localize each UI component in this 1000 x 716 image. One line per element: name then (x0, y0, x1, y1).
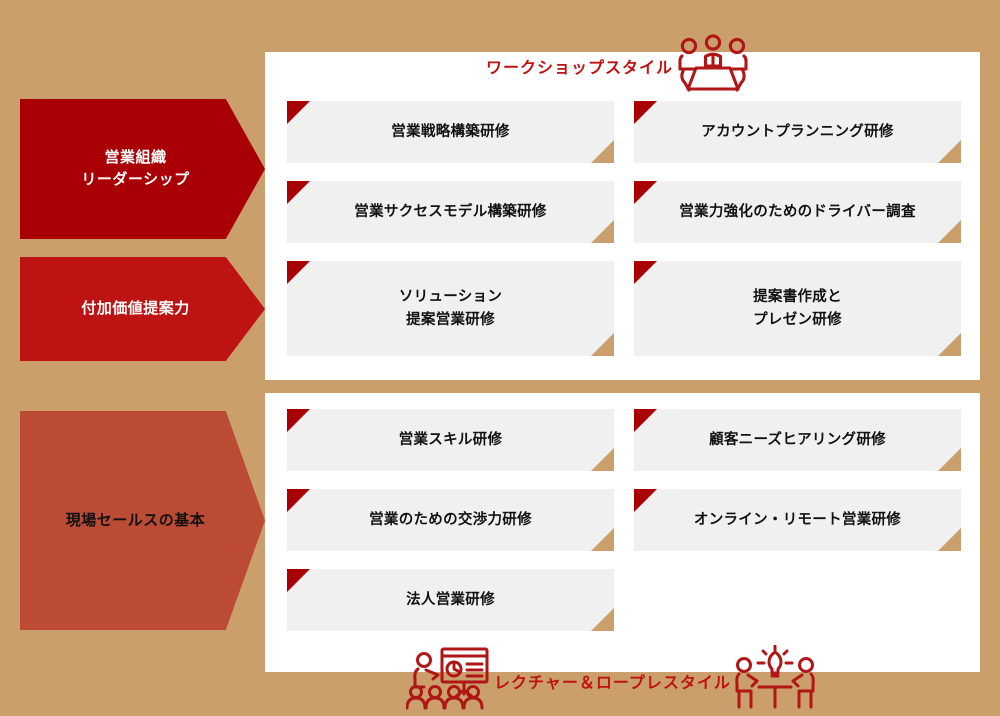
corner-accent-icon (938, 140, 961, 163)
caption-lecture: レクチャー＆ロープレスタイル (406, 645, 815, 716)
training-card[interactable]: 営業力強化のためのドライバー調査 (634, 181, 961, 243)
category-label-value: 付加価値提案力 (81, 298, 204, 320)
training-card-label: 営業戦略構築研修 (391, 121, 509, 143)
training-card[interactable]: ソリューション 提案営業研修 (287, 261, 614, 356)
lecture-presentation-icon (406, 646, 490, 715)
corner-accent-icon (591, 333, 614, 356)
corner-accent-icon (634, 261, 657, 284)
category-arrow-value[interactable]: 付加価値提案力 (20, 257, 265, 361)
training-card-label: 法人営業研修 (406, 589, 495, 611)
training-card-label: 営業サクセスモデル構築研修 (354, 201, 546, 223)
corner-accent-icon (938, 528, 961, 551)
training-card-label: 営業力強化のためのドライバー調査 (679, 201, 916, 223)
workshop-meeting-icon (677, 34, 749, 97)
category-arrow-leadership[interactable]: 営業組織 リーダーシップ (20, 99, 265, 239)
category-label-basics: 現場セールスの基本 (66, 510, 220, 532)
training-card[interactable]: オンライン・リモート営業研修 (634, 489, 961, 551)
training-card[interactable]: 提案書作成と プレゼン研修 (634, 261, 961, 356)
corner-accent-icon (591, 528, 614, 551)
caption-lecture-label: レクチャー＆ロープレスタイル (494, 669, 731, 693)
training-card[interactable]: 営業スキル研修 (287, 409, 614, 471)
corner-accent-icon (938, 220, 961, 243)
training-card[interactable]: 営業サクセスモデル構築研修 (287, 181, 614, 243)
training-card[interactable]: 法人営業研修 (287, 569, 614, 631)
training-card-label: ソリューション 提案営業研修 (399, 286, 502, 331)
training-card[interactable]: 顧客ニーズヒアリング研修 (634, 409, 961, 471)
corner-accent-icon (634, 409, 657, 432)
training-card-label: 提案書作成と プレゼン研修 (753, 286, 842, 331)
category-arrow-basics[interactable]: 現場セールスの基本 (20, 411, 265, 630)
corner-accent-icon (287, 261, 310, 284)
roleplay-discussion-icon (735, 645, 815, 716)
training-card-label: 営業のための交渉力研修 (369, 509, 532, 531)
training-card-label: 顧客ニーズヒアリング研修 (709, 429, 886, 451)
corner-accent-icon (591, 220, 614, 243)
training-card[interactable]: 営業戦略構築研修 (287, 101, 614, 163)
category-label-leadership: 営業組織 リーダーシップ (81, 147, 203, 191)
corner-accent-icon (287, 489, 310, 512)
corner-accent-icon (287, 409, 310, 432)
caption-workshop-label: ワークショップスタイル (486, 54, 673, 78)
corner-accent-icon (938, 448, 961, 471)
corner-accent-icon (634, 101, 657, 124)
corner-accent-icon (591, 140, 614, 163)
corner-accent-icon (287, 181, 310, 204)
corner-accent-icon (591, 448, 614, 471)
training-card-label: オンライン・リモート営業研修 (694, 509, 901, 531)
corner-accent-icon (591, 608, 614, 631)
corner-accent-icon (634, 489, 657, 512)
caption-workshop: ワークショップスタイル (486, 34, 749, 97)
training-card[interactable]: アカウントプランニング研修 (634, 101, 961, 163)
training-card[interactable]: 営業のための交渉力研修 (287, 489, 614, 551)
corner-accent-icon (938, 333, 961, 356)
corner-accent-icon (287, 569, 310, 592)
training-card-label: 営業スキル研修 (399, 429, 503, 451)
training-card-label: アカウントプランニング研修 (701, 121, 893, 143)
corner-accent-icon (634, 181, 657, 204)
corner-accent-icon (287, 101, 310, 124)
